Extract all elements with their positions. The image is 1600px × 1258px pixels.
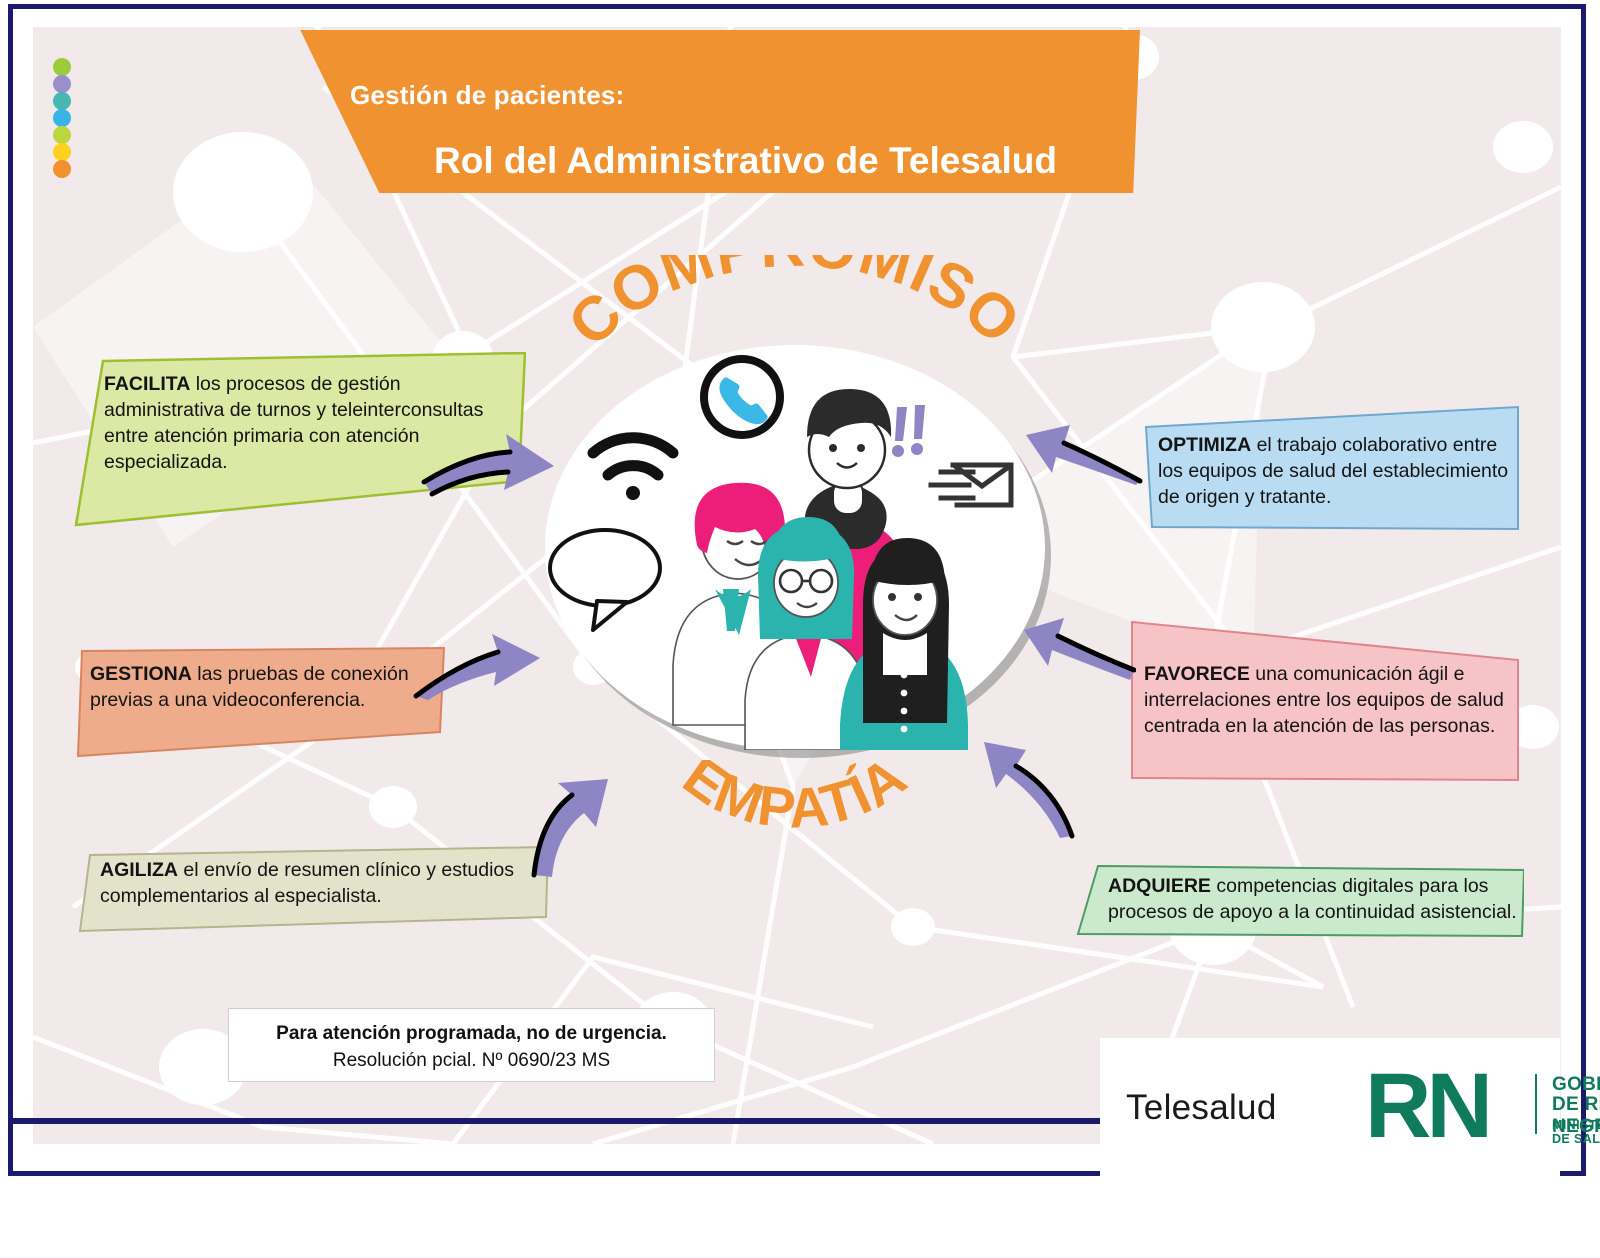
note-line-2: Resolución pcial. Nº 0690/23 MS (229, 1050, 714, 1072)
note-line-1: Para atención programada, no de urgencia… (229, 1023, 714, 1045)
header-eyebrow: Gestión de pacientes: (350, 80, 624, 111)
box-adquiere: ADQUIERE competencias digitales para los… (1072, 864, 1524, 940)
box-facilita-lead: FACILITA (104, 373, 190, 395)
dot-1 (53, 58, 71, 76)
logo-divider (1535, 1074, 1537, 1134)
arrow-agiliza (520, 775, 620, 880)
arrow-adquiere (980, 740, 1088, 840)
navy-divider (8, 1118, 1108, 1124)
box-favorece-lead: FAVORECE (1144, 663, 1250, 685)
infographic-root: Gestión de pacientes: Rol del Administra… (0, 0, 1600, 1258)
box-gestiona: GESTIONA las pruebas de conexión previas… (76, 646, 448, 759)
box-gestiona-lead: GESTIONA (90, 663, 192, 685)
arrow-favorece (1024, 608, 1136, 680)
exclamation-icon (892, 405, 925, 457)
box-favorece: FAVORECE una comunicación ágil e interre… (1126, 610, 1522, 782)
speech-bubble-icon (550, 530, 660, 630)
telesalud-wordmark: Telesalud (1126, 1088, 1277, 1128)
box-agiliza: AGILIZA el envío de resumen clínico y es… (78, 845, 550, 933)
box-optimiza-lead: OPTIMIZA (1158, 434, 1251, 456)
dot-6 (53, 143, 71, 161)
arrow-gestiona (412, 630, 542, 700)
box-optimiza: OPTIMIZA el trabajo colaborativo entre l… (1128, 405, 1520, 532)
dot-7 (53, 160, 71, 178)
dot-4 (53, 109, 71, 127)
health-team-illustration (545, 345, 1045, 750)
gov-line-1: GOBIERNO (1552, 1074, 1600, 1096)
box-adquiere-lead: ADQUIERE (1108, 875, 1211, 897)
page-title: Rol del Administrativo de Telesalud (434, 140, 1057, 182)
arrow-facilita (418, 432, 558, 504)
color-dots-decoration (53, 58, 75, 177)
header-banner: Gestión de pacientes: Rol del Administra… (290, 30, 1140, 193)
rn-logo: RN (1365, 1060, 1488, 1152)
wifi-dot (626, 486, 640, 500)
arrow-optimiza (1026, 415, 1144, 485)
gov-line-3: MINISTERIO DE SALUD (1552, 1118, 1600, 1146)
dot-5 (53, 126, 71, 144)
wifi-icon (593, 438, 673, 475)
bottom-note: Para atención programada, no de urgencia… (228, 1008, 715, 1082)
logo-block: Telesalud RN GOBIERNO DE RÍO NEGRO MINIS… (1100, 1038, 1560, 1176)
dot-2 (53, 75, 71, 93)
mail-send-icon (931, 465, 1011, 505)
dot-3 (53, 92, 71, 110)
phone-call-icon (704, 359, 780, 435)
box-agiliza-lead: AGILIZA (100, 859, 178, 881)
